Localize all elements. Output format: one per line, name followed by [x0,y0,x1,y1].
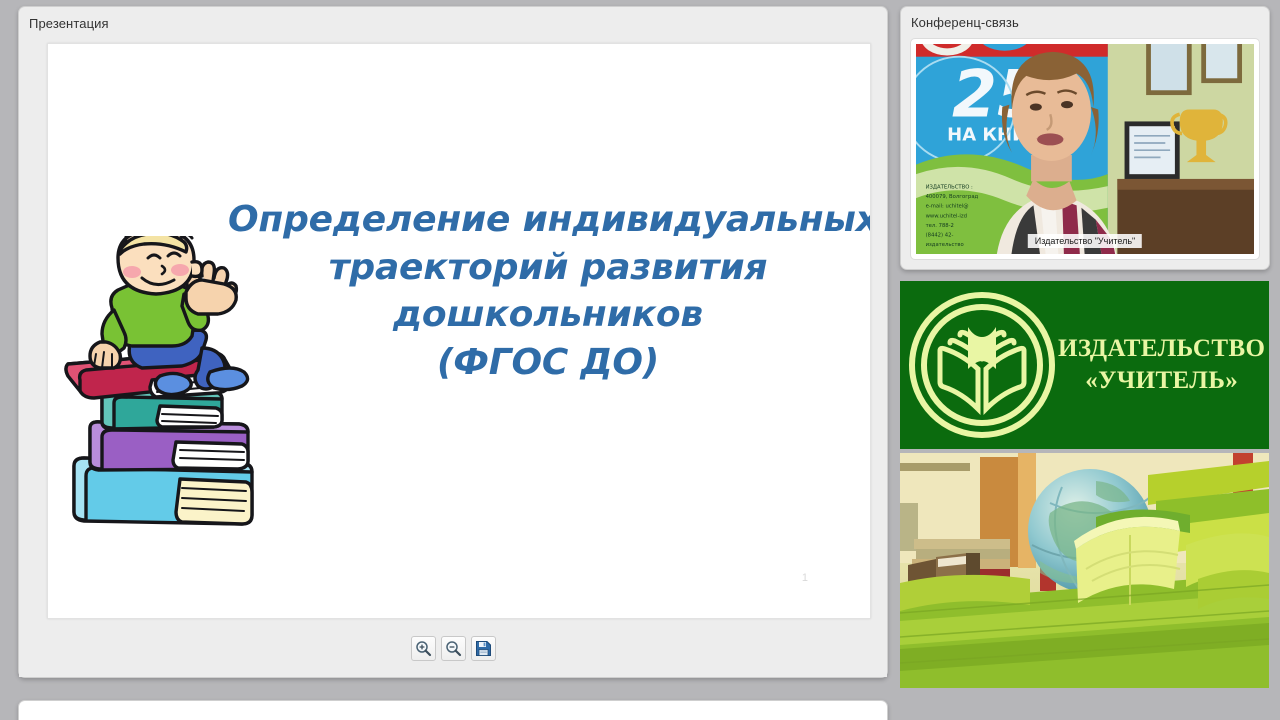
slide-viewer[interactable]: Определение индивидуальных траекторий ра… [47,43,871,619]
slide-title-line-4: (ФГОС ДО) [228,339,868,387]
publisher-logo-line-1: ИЗДАТЕЛЬСТВО [1058,333,1265,366]
svg-text:тел. 788-2: тел. 788-2 [926,223,954,229]
svg-text:400079, Волгоград: 400079, Волгоград [926,194,979,200]
presentation-panel-title: Презентация [19,7,887,39]
slide-title-line-3: дошкольников [228,291,868,339]
app-root: Презентация [0,0,1280,720]
publisher-logo-line-2: «УЧИТЕЛЬ» [1058,365,1265,398]
video-stream[interactable]: ИЗДАТЕЛЬСТВО 25 НА КНИХ ИЗДАТЕЛЬСТВО : 4… [916,44,1254,254]
slide-title-text: Определение индивидуальных траекторий ра… [228,196,868,386]
conference-panel: Конференц-связь [900,6,1270,270]
open-book-in-circle-icon [906,289,1058,441]
presentation-panel: Презентация [18,6,888,678]
zoom-in-button[interactable] [411,636,436,661]
slide-page-number: 1 [802,572,808,584]
save-floppy-icon [475,640,492,657]
zoom-out-button[interactable] [441,636,466,661]
svg-text:ИЗДАТЕЛЬСТВО :: ИЗДАТЕЛЬСТВО : [926,185,973,191]
slide-toolbar [19,619,887,677]
publisher-logo-text: ИЗДАТЕЛЬСТВО «УЧИТЕЛЬ» [1058,333,1269,398]
zoom-in-icon [415,640,432,657]
slide-title-line-2: траекторий развития [228,244,868,292]
video-frame[interactable]: ИЗДАТЕЛЬСТВО 25 НА КНИХ ИЗДАТЕЛЬСТВО : 4… [910,38,1260,260]
zoom-out-icon [445,640,462,657]
svg-text:www.uchitel-izd: www.uchitel-izd [926,213,967,219]
promo-photo-banner[interactable] [900,453,1269,688]
publisher-logo-banner[interactable]: ИЗДАТЕЛЬСТВО «УЧИТЕЛЬ» [900,281,1269,449]
bottom-partial-panel [18,700,888,720]
video-caption: Издательство "Учитель" [1028,234,1142,248]
slide-canvas: Определение индивидуальных траекторий ра… [48,44,870,618]
conference-panel-title: Конференц-связь [901,7,1269,37]
svg-text:(8442) 42-: (8442) 42- [926,232,954,238]
slide-title-line-1: Определение индивидуальных [228,196,868,244]
save-button[interactable] [471,636,496,661]
svg-text:e-mail: uchitel@: e-mail: uchitel@ [926,204,969,210]
svg-text:издательство: издательство [926,242,964,248]
